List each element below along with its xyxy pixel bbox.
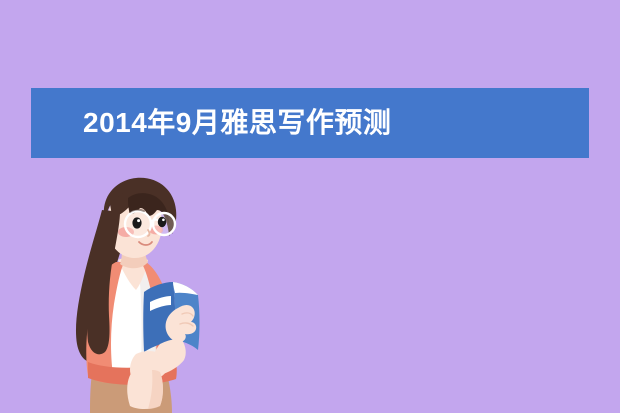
page-title: 2014年9月雅思写作预测 — [31, 109, 391, 137]
girl-reading-book-illustration — [40, 158, 230, 413]
eye-left — [132, 217, 141, 228]
eye-left-highlight — [137, 219, 140, 222]
eye-right-highlight — [162, 219, 165, 222]
poster-canvas: 2014年9月雅思写作预测 — [0, 0, 620, 413]
eye-right — [158, 217, 166, 227]
title-banner: 2014年9月雅思写作预测 — [31, 88, 589, 158]
